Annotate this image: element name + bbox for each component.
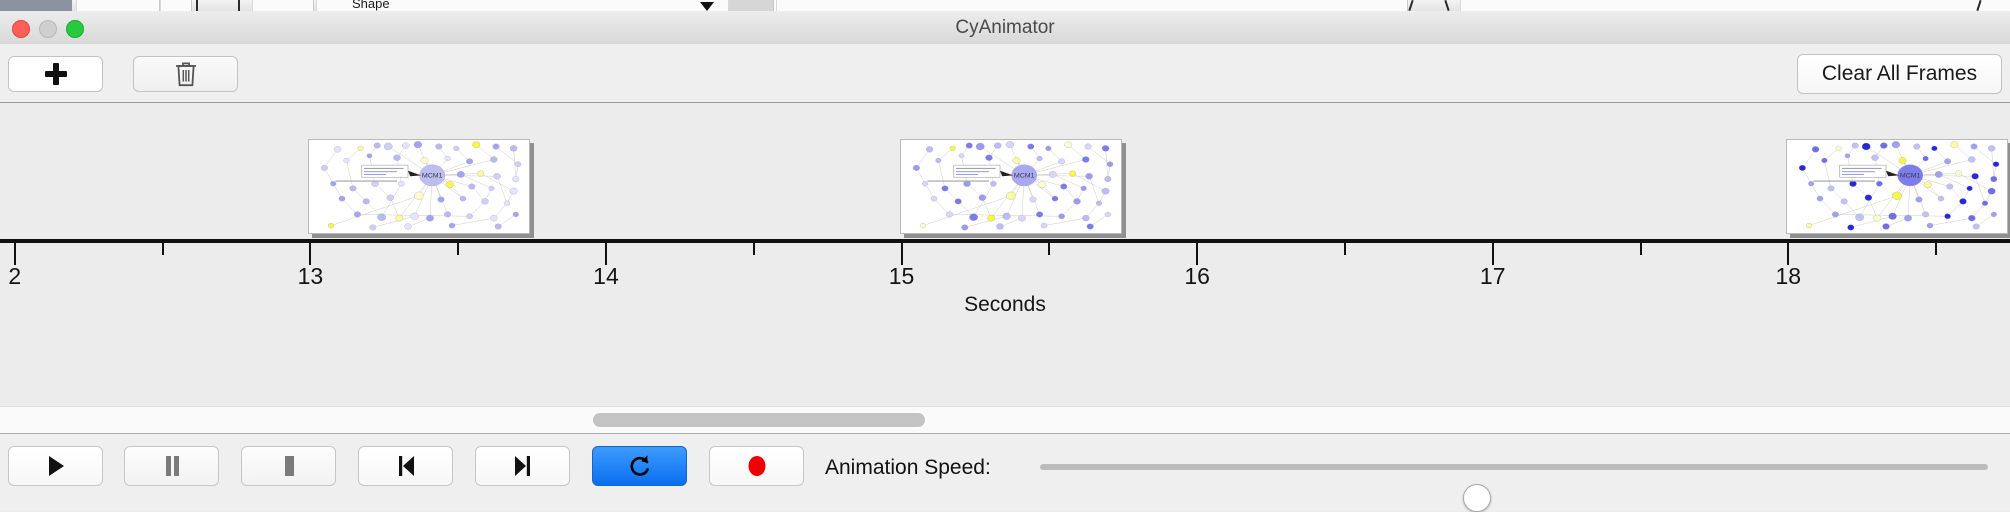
stop-icon	[279, 454, 299, 478]
timeline-frame[interactable]: MCM1	[1786, 139, 2008, 234]
play-button[interactable]	[8, 446, 103, 486]
tick-major	[1196, 243, 1198, 265]
tick-label: 17	[1480, 263, 1506, 290]
tick-label: 16	[1184, 263, 1210, 290]
tick-label: 15	[889, 263, 915, 290]
tick-minor	[1640, 243, 1642, 255]
timeline-frame[interactable]: MCM1	[308, 139, 530, 234]
frame-thumbnail: MCM1	[1786, 139, 2008, 234]
pause-icon	[162, 454, 182, 478]
timeline-scrollbar[interactable]	[0, 406, 2010, 434]
hub-node-label: MCM1	[1900, 173, 1921, 179]
traffic-light-group	[12, 20, 84, 38]
record-icon	[745, 453, 769, 479]
bg-caret-icon	[700, 2, 714, 11]
delete-frame-button[interactable]	[133, 56, 238, 92]
tick-label: 2	[8, 263, 21, 290]
tick-major	[14, 243, 16, 265]
tick-major	[309, 243, 311, 265]
bg-chunk	[252, 0, 314, 11]
axis-title: Seconds	[0, 293, 2010, 317]
scrollbar-thumb[interactable]	[593, 413, 925, 427]
minimize-button[interactable]	[39, 20, 57, 38]
frame-thumbnail: MCM1	[308, 139, 530, 234]
background-window-strip: Shape	[0, 0, 2010, 11]
loop-icon	[628, 453, 652, 479]
bg-chunk	[76, 0, 160, 11]
timeline-panel[interactable]: MCM1MCM1MCM1 2131415161718 Seconds	[0, 103, 2010, 405]
toolbar: Clear All Frames	[0, 44, 2010, 103]
tick-minor	[1344, 243, 1346, 255]
tick-major	[901, 243, 903, 265]
pause-button[interactable]	[124, 446, 219, 486]
plus-icon	[45, 63, 67, 85]
bg-tick	[238, 0, 240, 11]
tick-minor	[753, 243, 755, 255]
clear-all-frames-label: Clear All Frames	[1822, 62, 1977, 86]
bg-tick	[1408, 0, 1413, 11]
playback-control-bar: Animation Speed:	[0, 433, 2010, 511]
skip-to-start-button[interactable]	[358, 446, 453, 486]
add-frame-button[interactable]	[8, 56, 103, 92]
timeline-axis-line	[0, 239, 2010, 243]
title-bar[interactable]: CyAnimator	[0, 11, 2010, 45]
window-title: CyAnimator	[0, 11, 2010, 44]
bg-chunk	[160, 0, 192, 11]
tick-minor	[1048, 243, 1050, 255]
close-button[interactable]	[12, 20, 30, 38]
animation-speed-slider-thumb[interactable]	[1463, 484, 1491, 512]
tick-label: 14	[593, 263, 619, 290]
animation-speed-label: Animation Speed:	[825, 456, 991, 480]
skip-end-icon	[512, 454, 534, 478]
tick-label: 18	[1776, 263, 1802, 290]
network-thumbnail-graphic: MCM1	[901, 140, 1121, 233]
bg-chunk	[728, 0, 774, 11]
skip-start-icon	[395, 454, 417, 478]
cyanimator-window: Shape CyAnimator Cl	[0, 0, 2010, 510]
timeline-frame[interactable]: MCM1	[900, 139, 1122, 234]
bg-chunk	[0, 0, 72, 11]
tick-minor	[457, 243, 459, 255]
bg-chunk	[1460, 0, 2010, 11]
hub-node-label: MCM1	[1013, 173, 1034, 179]
bg-tick	[196, 0, 198, 11]
tick-minor	[1935, 243, 1937, 255]
frame-thumbnail: MCM1	[900, 139, 1122, 234]
hub-node-label: MCM1	[422, 173, 443, 179]
loop-button[interactable]	[592, 446, 687, 486]
zoom-button[interactable]	[66, 20, 84, 38]
network-thumbnail-graphic: MCM1	[309, 140, 529, 233]
trash-icon	[173, 60, 199, 88]
tick-minor	[162, 243, 164, 255]
stop-button[interactable]	[241, 446, 336, 486]
bg-chunk	[776, 0, 1408, 11]
bg-tick	[1444, 0, 1449, 11]
animation-speed-slider[interactable]	[1040, 464, 1988, 470]
tick-major	[605, 243, 607, 265]
tick-major	[1787, 243, 1789, 265]
play-icon	[45, 454, 67, 478]
clear-all-frames-button[interactable]: Clear All Frames	[1797, 54, 2002, 94]
bg-window-label: Shape	[352, 0, 390, 11]
skip-to-end-button[interactable]	[475, 446, 570, 486]
tick-label: 13	[298, 263, 324, 290]
network-thumbnail-graphic: MCM1	[1787, 140, 2007, 233]
record-button[interactable]	[709, 446, 804, 486]
tick-major	[1492, 243, 1494, 265]
